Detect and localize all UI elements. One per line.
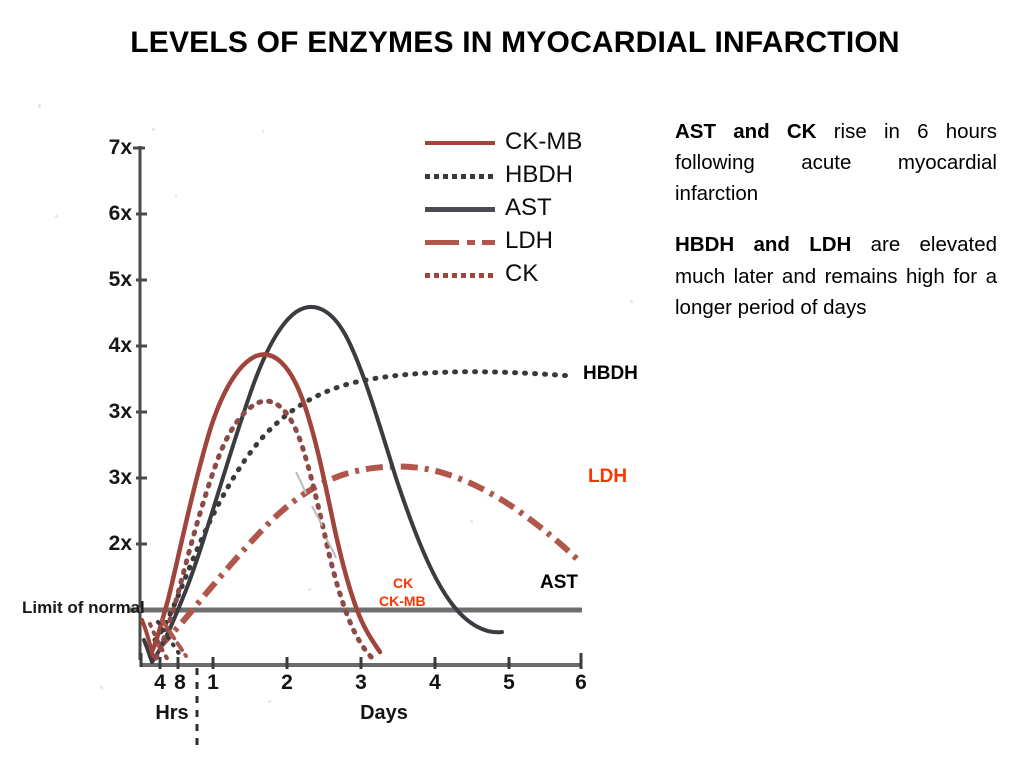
x-tick-label-hours: 4 bbox=[154, 671, 166, 695]
x-axis-days-caption: Days bbox=[360, 702, 408, 725]
x-tick-label-hours: 8 bbox=[174, 671, 186, 695]
series-annotation-ck: CK bbox=[393, 575, 413, 591]
x-tick-label-days: 2 bbox=[281, 671, 293, 695]
enzyme-level-chart: 7x 6x 5x 4x 3x 3x 2x Limit of normal 4 8… bbox=[0, 120, 660, 750]
legend-item-ck[interactable]: CK bbox=[425, 260, 605, 293]
x-tick-label-days: 1 bbox=[207, 671, 219, 695]
legend-swatch-hbdh bbox=[425, 174, 495, 179]
scan-speck bbox=[38, 104, 41, 108]
explanation-paragraph-1: AST and CK rise in 6 hours following acu… bbox=[675, 116, 997, 209]
curve-ck bbox=[156, 401, 376, 662]
explanation-text-column: AST and CK rise in 6 hours following acu… bbox=[675, 116, 997, 343]
legend-item-ast[interactable]: AST bbox=[425, 194, 605, 227]
legend-swatch-ck bbox=[425, 273, 495, 278]
x-tick-label-days: 4 bbox=[429, 671, 441, 695]
legend-label-ast: AST bbox=[505, 194, 552, 222]
page-title: LEVELS OF ENZYMES IN MYOCARDIAL INFARCTI… bbox=[120, 24, 910, 62]
explanation-paragraph-1-lead: AST and CK bbox=[675, 120, 816, 143]
x-tick-label-days: 3 bbox=[355, 671, 367, 695]
y-tick-label: 4x bbox=[86, 334, 132, 358]
series-annotation-ast: AST bbox=[540, 572, 578, 594]
series-annotation-hbdh: HBDH bbox=[583, 363, 638, 385]
legend-label-ck-mb: CK-MB bbox=[505, 128, 582, 156]
limit-of-normal-label: Limit of normal bbox=[22, 598, 145, 618]
curve-ldh bbox=[158, 466, 580, 648]
y-axis-tick-labels: 7x 6x 5x 4x 3x 3x 2x bbox=[80, 120, 132, 680]
legend-label-hbdh: HBDH bbox=[505, 161, 573, 189]
series-annotation-ck-mb: CK-MB bbox=[379, 593, 426, 609]
legend-label-ck: CK bbox=[505, 260, 538, 288]
x-tick-label-days: 6 bbox=[575, 671, 587, 695]
legend-item-ck-mb[interactable]: CK-MB bbox=[425, 128, 605, 161]
x-axis-hours-caption: Hrs bbox=[155, 702, 188, 725]
legend-label-ldh: LDH bbox=[505, 227, 553, 255]
legend-swatch-ast bbox=[425, 207, 495, 212]
y-tick-label: 7x bbox=[86, 136, 132, 160]
chart-legend: CK-MB HBDH AST LDH CK bbox=[425, 128, 605, 293]
legend-item-ldh[interactable]: LDH bbox=[425, 227, 605, 260]
legend-swatch-ldh bbox=[425, 240, 495, 245]
y-tick-label: 5x bbox=[86, 268, 132, 292]
legend-item-hbdh[interactable]: HBDH bbox=[425, 161, 605, 194]
legend-swatch-ck-mb bbox=[425, 141, 495, 145]
y-tick-label: 3x bbox=[86, 466, 132, 490]
explanation-paragraph-2: HBDH and LDH are elevated much later and… bbox=[675, 229, 997, 322]
series-annotation-ldh: LDH bbox=[588, 466, 627, 488]
y-tick-label: 6x bbox=[86, 202, 132, 226]
explanation-paragraph-2-lead: HBDH and LDH bbox=[675, 233, 851, 256]
y-tick-label: 2x bbox=[86, 532, 132, 556]
x-tick-label-days: 5 bbox=[503, 671, 515, 695]
y-tick-label: 3x bbox=[86, 400, 132, 424]
slide-canvas: LEVELS OF ENZYMES IN MYOCARDIAL INFARCTI… bbox=[0, 0, 1024, 768]
